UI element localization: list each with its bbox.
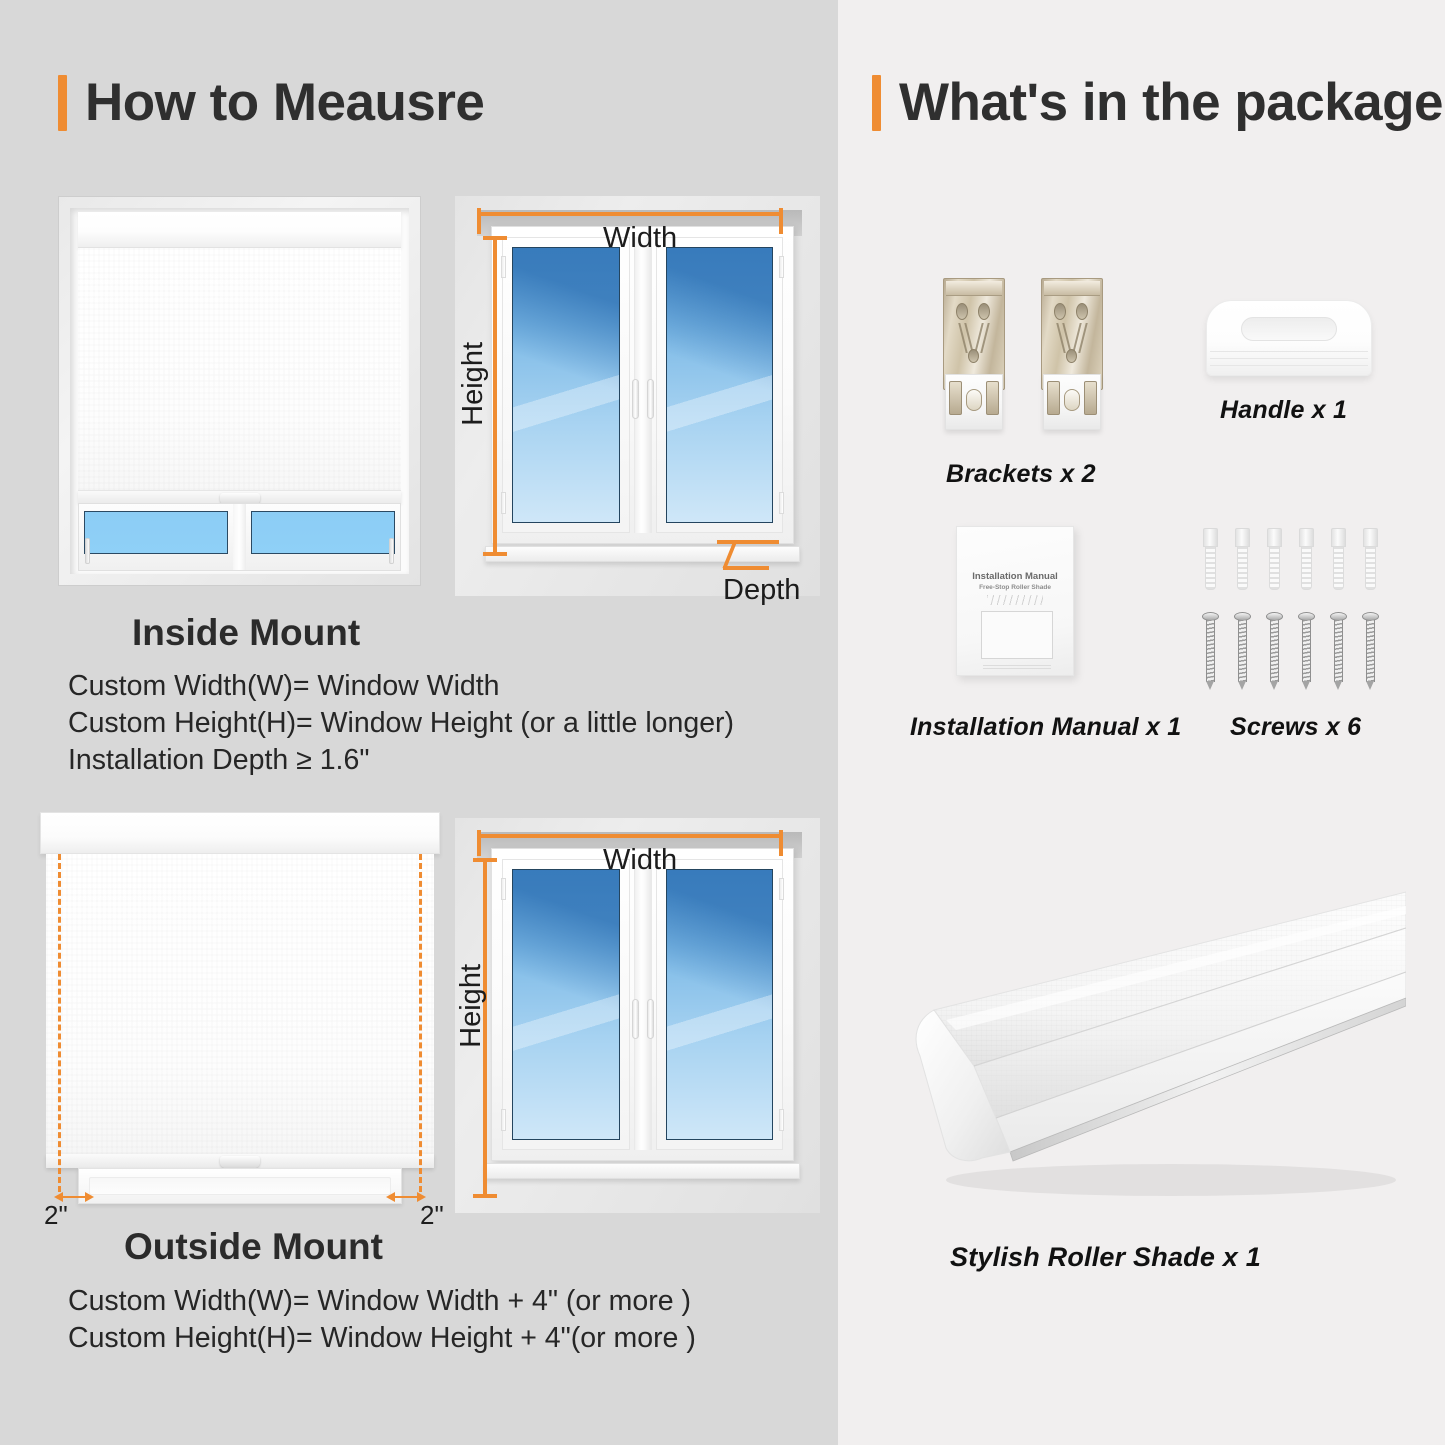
outside-mount-text-block: Custom Width(W)= Window Width + 4" (or m… bbox=[68, 1283, 696, 1357]
window-sill-inner bbox=[89, 1177, 391, 1195]
width-dimension-line bbox=[477, 212, 783, 216]
wall-anchor-5-icon bbox=[1330, 528, 1347, 590]
shade-pull-handle-icon bbox=[220, 1156, 260, 1168]
bracket-tab-left bbox=[949, 381, 962, 415]
handle-ridge-2 bbox=[1210, 358, 1368, 359]
width-tick-right bbox=[779, 208, 783, 234]
width-tick-left bbox=[477, 208, 481, 234]
window-sill bbox=[485, 1163, 800, 1179]
wall-anchor-2-icon bbox=[1234, 528, 1251, 590]
installation-manual-image: Installation Manual Free-Stop Roller Sha… bbox=[956, 526, 1086, 686]
height-tick-bottom bbox=[483, 552, 507, 556]
wall-anchor-6-icon bbox=[1362, 528, 1379, 590]
brackets-image bbox=[933, 278, 1123, 438]
outside-mount-line-1: Custom Width(W)= Window Width + 4" (or m… bbox=[68, 1283, 696, 1319]
screw-6-icon bbox=[1362, 612, 1379, 688]
window-sill-behind bbox=[78, 1168, 402, 1204]
hinge-top-right-icon bbox=[779, 878, 784, 900]
sash-handle-right-icon bbox=[389, 538, 394, 564]
handle-ridge-1 bbox=[1210, 351, 1368, 352]
bracket-slot-3 bbox=[968, 349, 979, 363]
shade-fabric bbox=[78, 248, 401, 490]
screw-4-icon bbox=[1298, 612, 1315, 688]
bracket-slot-2 bbox=[1076, 303, 1088, 320]
manual-cover-diagram-box bbox=[981, 611, 1053, 659]
screw-2-icon bbox=[1234, 612, 1251, 688]
inside-mount-shade-illustration bbox=[58, 196, 421, 586]
window-latch-right-icon bbox=[647, 999, 654, 1039]
roller-shade-label: Stylish Roller Shade x 1 bbox=[950, 1242, 1261, 1273]
overhang-arrow-right bbox=[386, 1190, 426, 1200]
depth-dimension-marker bbox=[717, 540, 783, 574]
height-label: Height bbox=[457, 342, 490, 426]
wall-anchor-3-icon bbox=[1266, 528, 1283, 590]
window-latch-left-icon bbox=[632, 379, 639, 419]
window-sash-exposed bbox=[78, 503, 401, 571]
inside-mount-line-3: Installation Depth ≥ 1.6" bbox=[68, 742, 734, 778]
roller-shade-product-image bbox=[886, 880, 1406, 1210]
installation-manual-label: Installation Manual x 1 bbox=[910, 713, 1181, 742]
handle-label: Handle x 1 bbox=[1220, 396, 1347, 425]
manual-cover-icon: Installation Manual Free-Stop Roller Sha… bbox=[956, 526, 1074, 676]
screw-1-icon bbox=[1202, 612, 1219, 688]
height-tick-bottom bbox=[473, 1194, 497, 1198]
wall-anchor-1-icon bbox=[1202, 528, 1219, 590]
height-dimension-line bbox=[493, 236, 497, 556]
sash-handle-left-icon bbox=[85, 538, 90, 564]
screws-image bbox=[1202, 528, 1402, 693]
inside-mount-measure-diagram: Width Height Depth bbox=[455, 196, 820, 596]
package-contents-panel: What's in the package bbox=[838, 0, 1445, 1445]
window-latch-left-icon bbox=[632, 999, 639, 1039]
manual-cover-graphic bbox=[987, 595, 1043, 605]
manual-cover-subtitle: Free-Stop Roller Shade bbox=[957, 584, 1073, 591]
window-glass-left bbox=[512, 247, 620, 523]
screw-3-icon bbox=[1266, 612, 1283, 688]
wall-anchor-4-icon bbox=[1298, 528, 1315, 590]
bracket-1-icon bbox=[943, 278, 1005, 430]
hinge-top-left-icon bbox=[501, 256, 506, 278]
window-pane-left bbox=[84, 511, 228, 554]
depth-mark-bottom bbox=[723, 566, 769, 570]
outside-mount-line-2: Custom Height(H)= Window Height + 4"(or … bbox=[68, 1320, 696, 1356]
width-tick-left bbox=[477, 830, 481, 856]
window-glass-right bbox=[666, 247, 774, 523]
bracket-slot-1 bbox=[1054, 303, 1066, 320]
bracket-slot-3 bbox=[1066, 349, 1077, 363]
handle-ridge-3 bbox=[1210, 365, 1368, 366]
outside-mount-title: Outside Mount bbox=[124, 1226, 383, 1268]
bracket-tab-right bbox=[986, 381, 999, 415]
screw-5-icon bbox=[1330, 612, 1347, 688]
handle-icon bbox=[1206, 300, 1372, 376]
width-dimension-line bbox=[477, 834, 783, 838]
handle-image bbox=[1206, 300, 1386, 390]
overhang-guide-left bbox=[58, 854, 61, 1192]
depth-mark-diagonal bbox=[722, 542, 737, 568]
bracket-tab-left bbox=[1047, 381, 1060, 415]
inside-mount-title: Inside Mount bbox=[132, 612, 360, 654]
infographic-page: How to Meausre bbox=[0, 0, 1445, 1445]
shade-headrail bbox=[78, 212, 401, 248]
window-frame bbox=[491, 848, 794, 1161]
bracket-mount-hole bbox=[1064, 389, 1080, 411]
manual-cover-title: Installation Manual bbox=[957, 571, 1073, 582]
bracket-top-flange bbox=[946, 281, 1002, 296]
depth-mark-top bbox=[717, 540, 779, 544]
how-to-measure-panel: How to Meausre bbox=[0, 0, 838, 1445]
package-title: What's in the package bbox=[899, 72, 1443, 133]
bracket-base bbox=[945, 374, 1003, 430]
hinge-top-left-icon bbox=[501, 878, 506, 900]
overhang-arrow-left bbox=[54, 1190, 94, 1200]
shade-bottom-rail bbox=[78, 490, 401, 503]
brackets-label: Brackets x 2 bbox=[946, 460, 1096, 489]
outside-mount-shade-illustration bbox=[40, 812, 440, 1207]
height-label: Height bbox=[455, 964, 488, 1048]
how-to-measure-heading: How to Meausre bbox=[58, 72, 484, 133]
inside-mount-line-2: Custom Height(H)= Window Height (or a li… bbox=[68, 705, 734, 741]
bracket-slot-1 bbox=[956, 303, 968, 320]
window-mullion bbox=[233, 504, 246, 570]
window-frame bbox=[491, 226, 794, 544]
inside-mount-line-1: Custom Width(W)= Window Width bbox=[68, 668, 734, 704]
overhang-label-left: 2" bbox=[44, 1200, 68, 1231]
shade-fabric bbox=[46, 854, 434, 1154]
hinge-bottom-left-icon bbox=[501, 1109, 506, 1131]
hinge-bottom-left-icon bbox=[501, 492, 506, 514]
handle-grip-slot bbox=[1241, 317, 1337, 341]
width-label: Width bbox=[603, 222, 677, 255]
window-sash-right bbox=[656, 237, 784, 533]
window-sash-left bbox=[502, 237, 630, 533]
bracket-slot-2 bbox=[978, 303, 990, 320]
roller-shade-svg bbox=[886, 880, 1406, 1210]
window-glass-left bbox=[512, 869, 620, 1140]
bracket-top-flange bbox=[1044, 281, 1100, 296]
width-tick-right bbox=[779, 830, 783, 856]
window-sash-left bbox=[502, 859, 630, 1150]
window-mullion bbox=[630, 859, 656, 1150]
window-latch-right-icon bbox=[647, 379, 654, 419]
manual-cover-footer-lines bbox=[983, 663, 1051, 669]
width-label: Width bbox=[603, 844, 677, 877]
bracket-mount-hole bbox=[966, 389, 982, 411]
window-glass-right bbox=[666, 869, 774, 1140]
accent-bar-icon bbox=[872, 75, 881, 131]
hinge-bottom-right-icon bbox=[779, 492, 784, 514]
overhang-guide-right bbox=[419, 854, 422, 1192]
height-tick-top bbox=[473, 858, 497, 862]
shade-bottom-rail bbox=[46, 1154, 434, 1168]
outside-mount-measure-diagram: Width Height bbox=[455, 818, 820, 1213]
depth-label: Depth bbox=[723, 574, 800, 607]
package-heading: What's in the package bbox=[872, 72, 1443, 133]
inside-mount-text-block: Custom Width(W)= Window Width Custom Hei… bbox=[68, 668, 734, 779]
bracket-2-icon bbox=[1041, 278, 1103, 430]
window-mullion bbox=[630, 237, 656, 533]
shade-headrail bbox=[40, 812, 440, 854]
accent-bar-icon bbox=[58, 75, 67, 131]
bracket-tab-right bbox=[1084, 381, 1097, 415]
how-to-measure-title: How to Meausre bbox=[85, 72, 484, 133]
window-pane-right bbox=[251, 511, 395, 554]
window-sash-right bbox=[656, 859, 784, 1150]
bracket-base bbox=[1043, 374, 1101, 430]
screws-label: Screws x 6 bbox=[1230, 713, 1361, 742]
height-tick-top bbox=[483, 236, 507, 240]
hinge-bottom-right-icon bbox=[779, 1109, 784, 1131]
hinge-top-right-icon bbox=[779, 256, 784, 278]
overhang-label-right: 2" bbox=[420, 1200, 444, 1231]
